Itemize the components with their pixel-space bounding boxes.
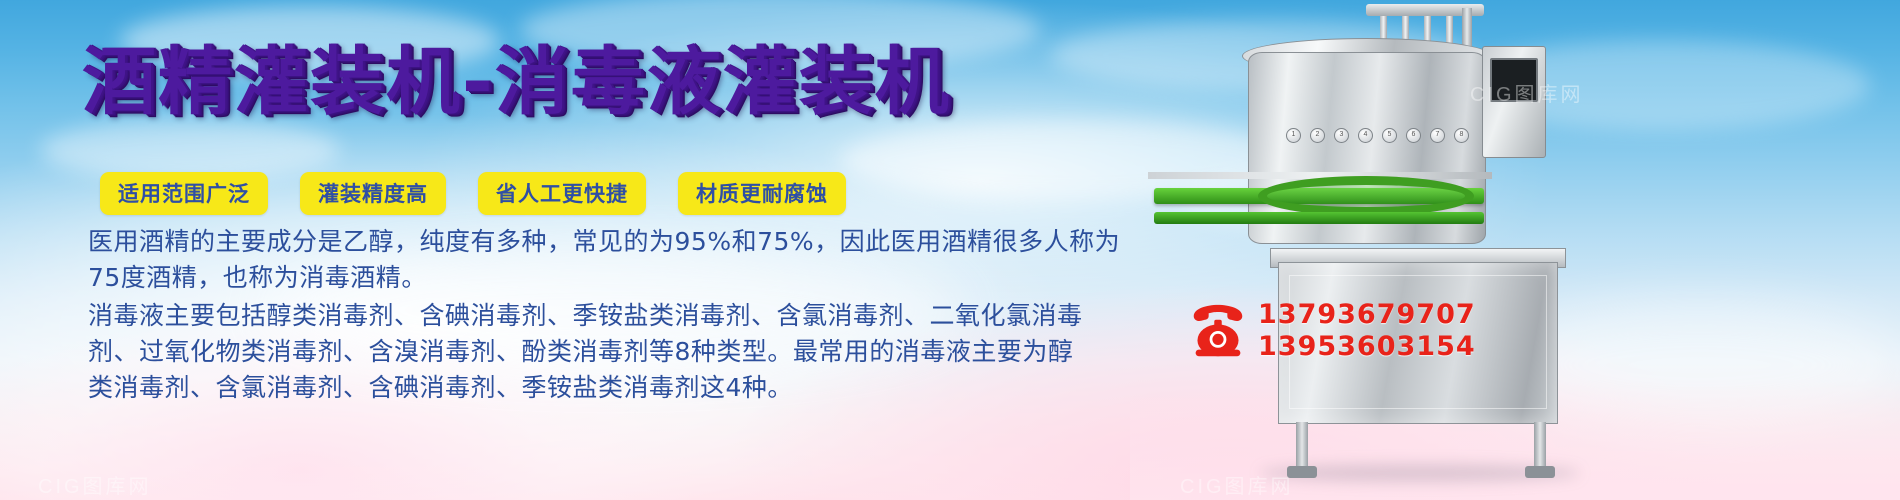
feature-badge-3: 省人工更快捷 <box>478 172 646 215</box>
machine-conveyor-belt-lower <box>1154 212 1484 224</box>
machine-dial-6: 6 <box>1406 128 1421 143</box>
banner-body-copy: 医用酒精的主要成分是乙醇，纯度有多种，常见的为95%和75%，因此医用酒精很多人… <box>88 224 1118 408</box>
machine-control-screen <box>1490 58 1538 102</box>
watermark-text: CIG图库网 <box>38 470 152 499</box>
paragraph-2: 消毒液主要包括醇类消毒剂、含碘消毒剂、季铵盐类消毒剂、含氯消毒剂、二氧化氯消毒 … <box>88 298 1118 406</box>
paragraph-1-line-2: 75度酒精，也称为消毒酒精。 <box>88 260 1118 296</box>
machine-dial-1: 1 <box>1286 128 1301 143</box>
cloud-decoration <box>40 120 340 180</box>
machine-green-turntable <box>1258 176 1474 216</box>
promo-banner: 酒精灌装机-消毒液灌装机 适用范围广泛 灌装精度高 省人工更快捷 材质更耐腐蚀 … <box>0 0 1900 500</box>
phone-number-list: 13793679707 13953603154 <box>1258 300 1476 362</box>
phone-number-1[interactable]: 13793679707 <box>1258 300 1476 330</box>
headline-part-2: 消毒液灌装机 <box>495 39 951 125</box>
machine-foot <box>1287 466 1317 478</box>
feature-badge-2: 灌装精度高 <box>300 172 446 215</box>
paragraph-1: 医用酒精的主要成分是乙醇，纯度有多种，常见的为95%和75%，因此医用酒精很多人… <box>88 224 1118 296</box>
machine-dial-3: 3 <box>1334 128 1349 143</box>
machine-leg <box>1534 422 1546 470</box>
headline-part-1: 酒精灌装机 <box>82 39 462 125</box>
telephone-icon <box>1188 303 1248 359</box>
phone-number-2[interactable]: 13953603154 <box>1258 332 1476 362</box>
product-photo-filling-machine: 1 2 3 4 5 6 7 8 <box>1130 0 1900 500</box>
feature-badge-1: 适用范围广泛 <box>100 172 268 215</box>
machine-dial-2: 2 <box>1310 128 1325 143</box>
machine-dial-8: 8 <box>1454 128 1469 143</box>
feature-badge-4: 材质更耐腐蚀 <box>678 172 846 215</box>
machine-leg <box>1296 422 1308 470</box>
headline-dash: - <box>462 39 495 125</box>
banner-headline: 酒精灌装机-消毒液灌装机 <box>82 42 951 122</box>
paragraph-1-line-1: 医用酒精的主要成分是乙醇，纯度有多种，常见的为95%和75%，因此医用酒精很多人… <box>88 224 1118 260</box>
paragraph-2-line-1: 消毒液主要包括醇类消毒剂、含碘消毒剂、季铵盐类消毒剂、含氯消毒剂、二氧化氯消毒 <box>88 298 1118 334</box>
paragraph-2-line-3: 类消毒剂、含氯消毒剂、含碘消毒剂、季铵盐类消毒剂这4种。 <box>88 370 1118 406</box>
paragraph-2-line-2: 剂、过氧化物类消毒剂、含溴消毒剂、酚类消毒剂等8种类型。最常用的消毒液主要为醇 <box>88 334 1118 370</box>
contact-phone-block: 13793679707 13953603154 <box>1188 300 1476 362</box>
machine-dial-7: 7 <box>1430 128 1445 143</box>
feature-badge-list: 适用范围广泛 灌装精度高 省人工更快捷 材质更耐腐蚀 <box>100 172 846 215</box>
machine-dial-5: 5 <box>1382 128 1397 143</box>
machine-foot <box>1525 466 1555 478</box>
machine-dial-4: 4 <box>1358 128 1373 143</box>
